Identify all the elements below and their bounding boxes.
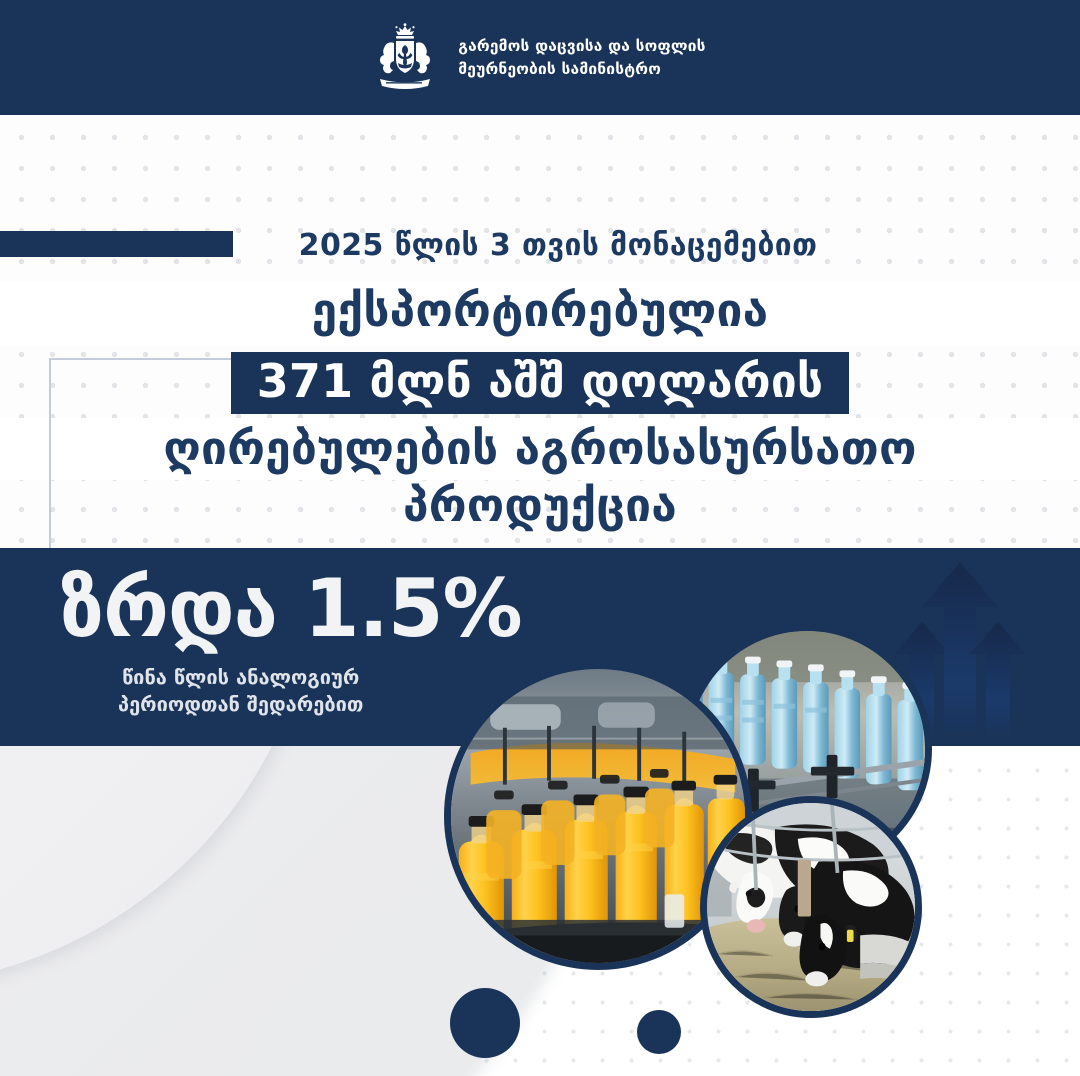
circle-decoration-large	[450, 988, 520, 1058]
georgia-coat-of-arms-icon	[374, 23, 436, 93]
circle-decoration-small	[637, 1010, 681, 1054]
headline-line-4: პროდუქცია	[0, 482, 1080, 530]
kicker-text: 2025 წლის 3 თვის მონაცემებით	[0, 228, 1080, 263]
headline-highlight-line: 371 მლნ აშშ დოლარის	[0, 352, 1080, 414]
page-header: გარემოს დაცვისა და სოფლის მეურნეობის სამ…	[0, 0, 1080, 115]
dairy-cows-photo	[700, 796, 922, 1018]
ministry-name: გარემოს დაცვისა და სოფლის მეურნეობის სამ…	[458, 35, 705, 80]
headline-highlight-box: 371 მლნ აშშ დოლარის	[231, 352, 850, 414]
growth-headline: ზრდა 1.5%	[60, 562, 522, 655]
growth-comparison-note: წინა წლის ანალოგიურ პერიოდთან შედარებით	[118, 664, 363, 718]
infographic-poster: გარემოს დაცვისა და სოფლის მეურნეობის სამ…	[0, 0, 1080, 1076]
headline-line-3: ღირებულების აგროსასურსათო	[0, 425, 1080, 473]
headline-line-1: ექსპორტირებულია	[0, 287, 1080, 335]
